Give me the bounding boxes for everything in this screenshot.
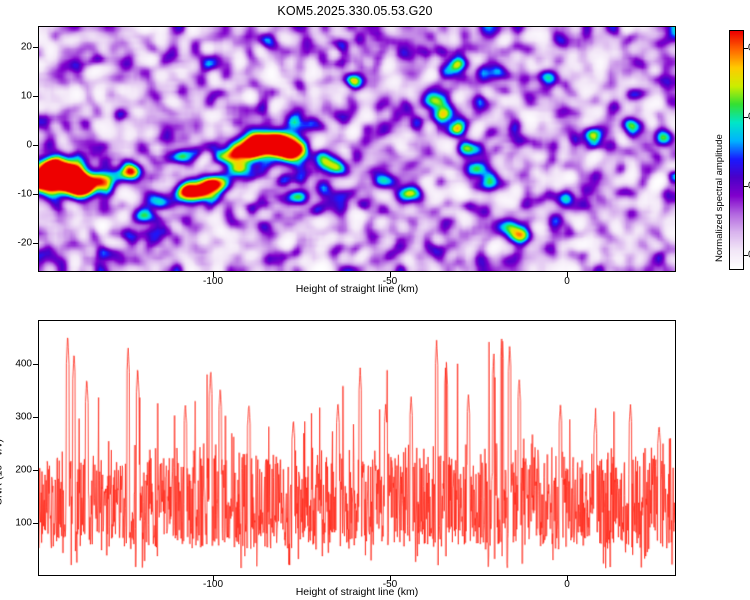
ytick-label-bottom-0: 400 — [2, 359, 32, 370]
ytick-label-bottom-3: 100 — [2, 518, 32, 529]
tick-mark — [33, 523, 38, 524]
tick-mark — [33, 145, 38, 146]
tick-mark — [33, 194, 38, 195]
xlabel-bottom: Height of straight line (km) — [38, 586, 676, 598]
tick-mark — [33, 470, 38, 471]
xlabel-top: Height of straight line (km) — [38, 283, 676, 295]
snr-trace-plot — [39, 321, 675, 575]
tick-mark — [33, 47, 38, 48]
tick-mark — [33, 243, 38, 244]
ytick-label-bottom-1: 300 — [2, 412, 32, 423]
ylabel-snr-post: v/v) — [0, 439, 5, 459]
tick-mark — [33, 417, 38, 418]
ytick-label-top-2: 0 — [2, 140, 32, 151]
tick-mark — [33, 96, 38, 97]
colorbar-gradient — [730, 31, 743, 269]
snr-panel — [38, 320, 676, 576]
colorbar — [729, 30, 744, 270]
colorbar-label: Normalized spectral amplitude — [714, 134, 725, 262]
ylabel-snr: SNR (10 * v/v) — [0, 439, 5, 505]
ylabel-snr-pre: SNR (10 — [0, 462, 5, 505]
spectrogram-panel — [38, 26, 676, 272]
ytick-label-top-0: 20 — [2, 42, 32, 53]
figure-title: KOM5.2025.330.05.53.G20 — [0, 4, 710, 18]
tick-mark — [33, 364, 38, 365]
spectrogram-image — [39, 27, 675, 271]
ytick-label-top-4: -20 — [2, 238, 32, 249]
ytick-label-top-1: 10 — [2, 91, 32, 102]
ytick-label-bottom-2: 200 — [2, 465, 32, 476]
figure-root: KOM5.2025.330.05.53.G20 20 10 0 -10 -20 … — [0, 0, 750, 600]
ytick-label-top-3: -10 — [2, 189, 32, 200]
